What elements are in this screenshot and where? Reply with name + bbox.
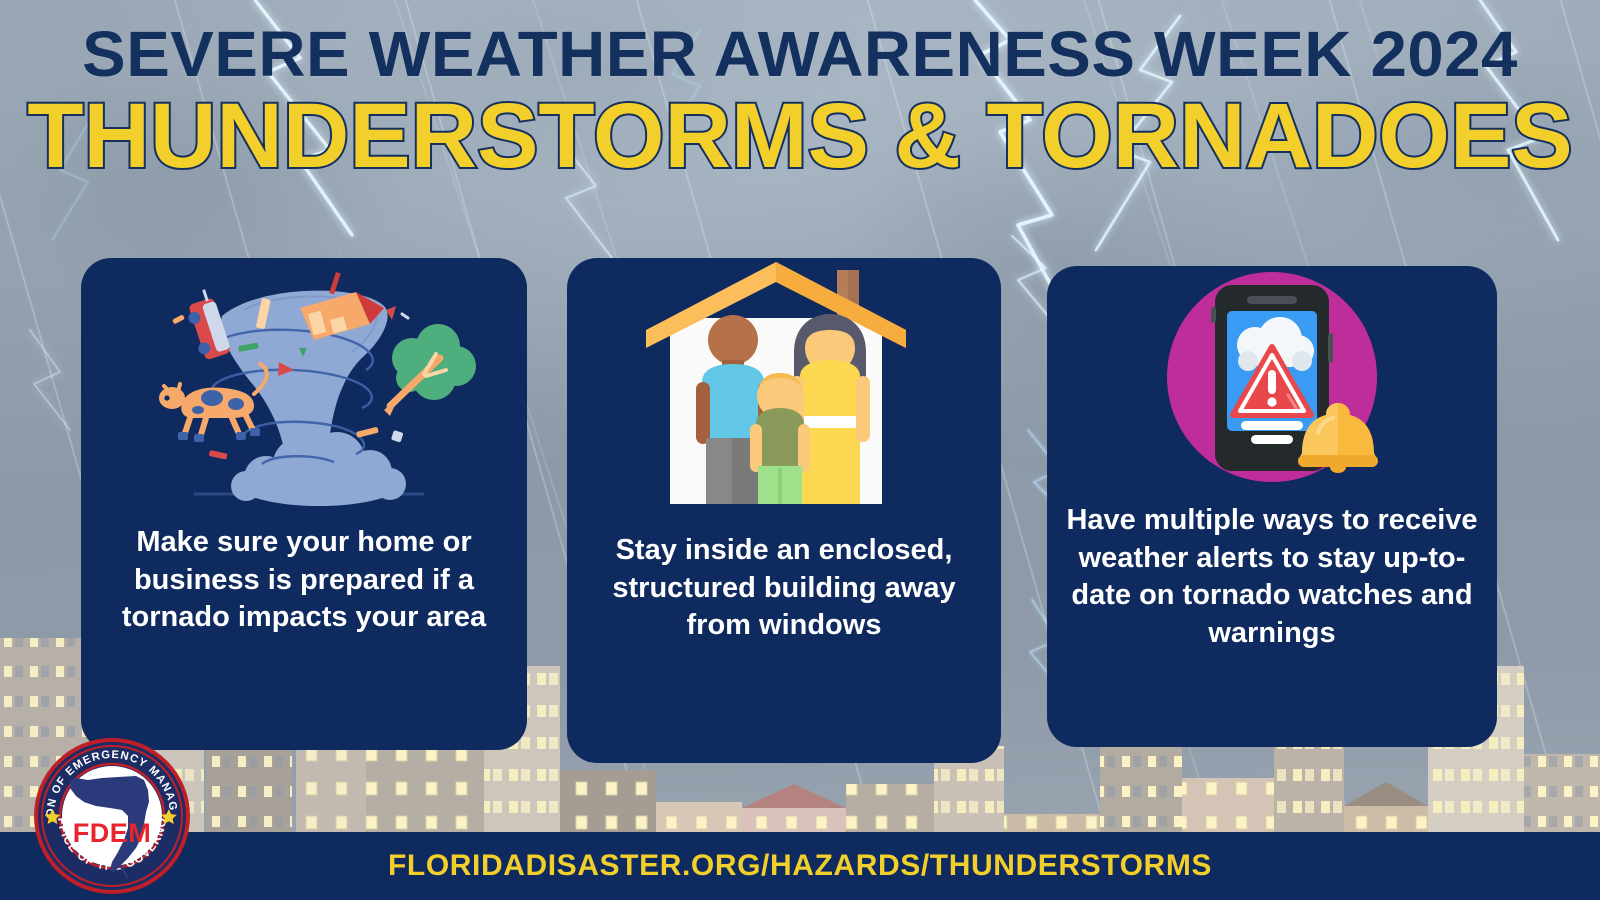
page-title-line1: SEVERE WEATHER AWARENESS WEEK 2024 xyxy=(0,0,1600,86)
tip-card-weather-alerts: Have multiple ways to receive weather al… xyxy=(1047,266,1497,747)
seal-center-text: FDEM xyxy=(73,818,152,848)
title-block: SEVERE WEATHER AWARENESS WEEK 2024 THUND… xyxy=(0,0,1600,182)
tip-card-text: Have multiple ways to receive weather al… xyxy=(1061,502,1484,653)
infographic-canvas: SEVERE WEATHER AWARENESS WEEK 2024 THUND… xyxy=(0,0,1600,900)
phone-weather-alert-icon xyxy=(1047,266,1497,488)
tornado-debris-icon xyxy=(81,258,527,508)
family-in-house-icon xyxy=(567,258,1001,506)
tip-card-shelter-inside: Stay inside an enclosed, structured buil… xyxy=(567,258,1001,763)
page-title-line2: THUNDERSTORMS & TORNADOES xyxy=(0,90,1600,182)
tip-card-tornado-preparedness: Make sure your home or business is prepa… xyxy=(81,258,527,750)
tip-card-text: Make sure your home or business is prepa… xyxy=(99,524,509,637)
tip-card-text: Stay inside an enclosed, structured buil… xyxy=(584,532,983,645)
website-url[interactable]: FLORIDADISASTER.ORG/HAZARDS/THUNDERSTORM… xyxy=(388,849,1212,883)
footer-bar: FLORIDADISASTER.ORG/HAZARDS/THUNDERSTORM… xyxy=(0,832,1600,900)
fdem-seal-logo: DIVISION OF EMERGENCY MANAGEMENT OFFICE … xyxy=(32,736,192,896)
